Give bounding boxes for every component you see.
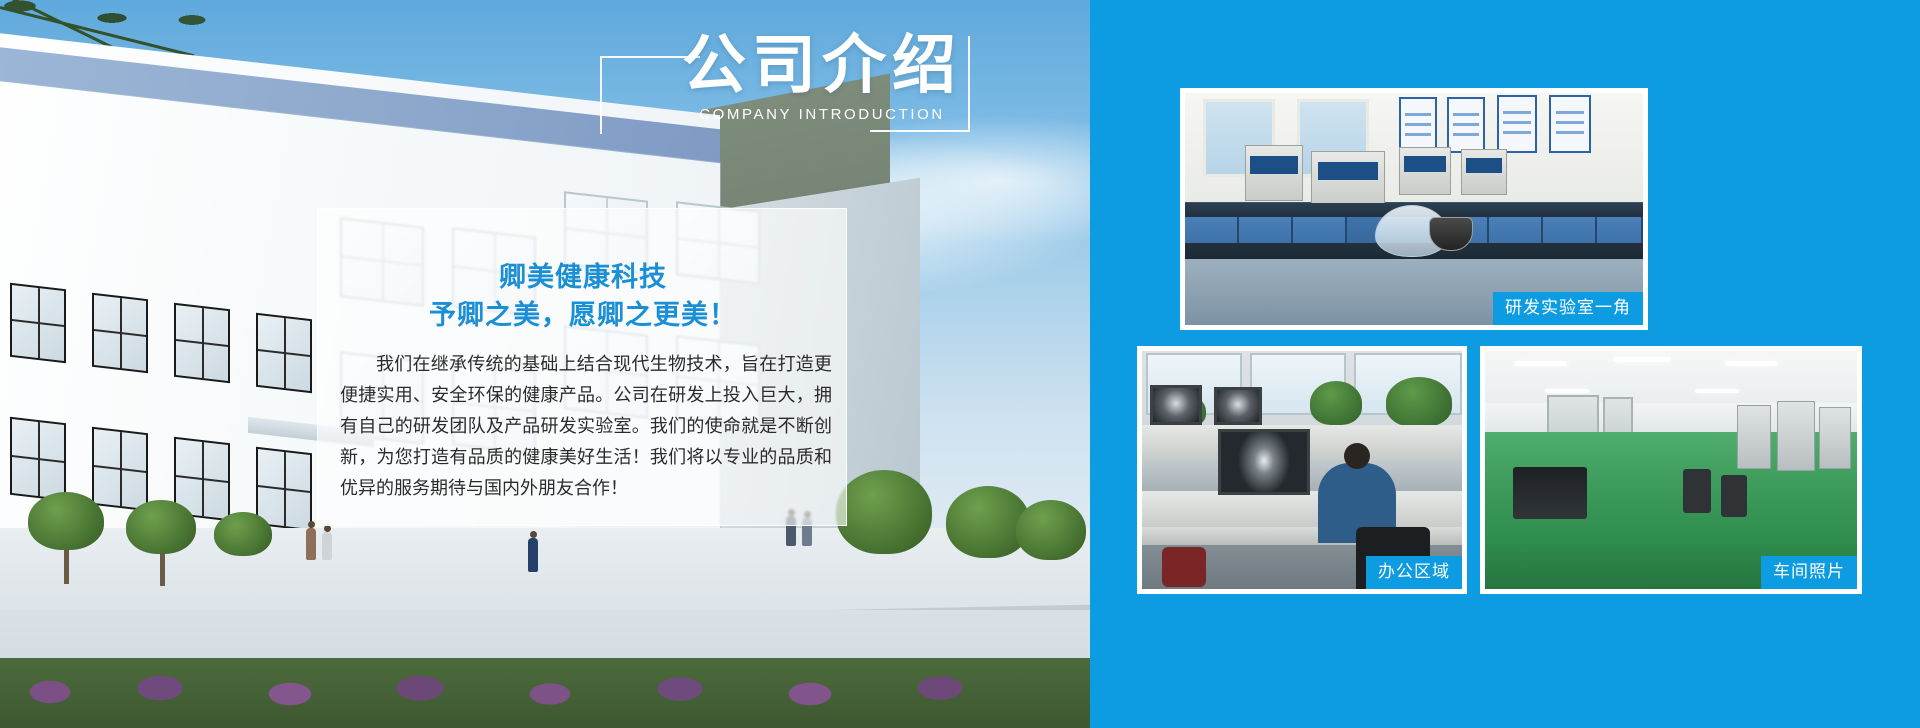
office-monitor (1150, 385, 1202, 425)
lab-instrument (1461, 149, 1507, 195)
company-slogan: 予卿之美，愿卿之更美！ (318, 299, 848, 333)
company-introduction-banner: 公司介绍 COMPANY INTRODUCTION 卿美健康科技 予卿之美，愿卿… (0, 0, 1920, 728)
pedestrian (306, 528, 316, 560)
lab-wall-poster (1497, 95, 1537, 153)
workshop-stool (1721, 475, 1747, 517)
workshop-equipment (1819, 407, 1851, 469)
ceiling-light (1545, 389, 1589, 393)
shrub (1016, 500, 1086, 560)
photo-caption: 研发实验室一角 (1493, 292, 1643, 325)
office-desk (1142, 491, 1467, 527)
flower-hedge (0, 658, 1090, 728)
building-window (92, 293, 148, 373)
page-title: 公司介绍 (662, 30, 982, 102)
ceiling-light (1725, 361, 1777, 366)
building-window (92, 427, 148, 511)
lab-photo[interactable]: 研发实验室一角 (1180, 88, 1648, 330)
page-subtitle: COMPANY INTRODUCTION (662, 106, 982, 123)
office-photo[interactable]: 办公区域 (1137, 346, 1467, 594)
shrub (126, 500, 196, 554)
photo-caption: 车间照片 (1761, 556, 1857, 589)
workshop-trolley (1513, 467, 1587, 519)
ceiling-light (1515, 361, 1567, 366)
shrub (836, 470, 932, 554)
photo-caption: 办公区域 (1366, 556, 1462, 589)
workshop-equipment (1737, 405, 1771, 469)
pedestrian (322, 532, 332, 560)
workshop-stool (1683, 469, 1711, 513)
building-window (10, 283, 66, 363)
lab-wall-poster (1447, 97, 1485, 153)
lab-instrument (1399, 147, 1451, 195)
shrub (214, 512, 272, 556)
office-plant (1310, 381, 1362, 425)
lab-wall-poster (1549, 95, 1591, 153)
intro-text-card: 卿美健康科技 予卿之美，愿卿之更美！ 我们在继承传统的基础上结合现代生物技术，旨… (317, 208, 847, 526)
workshop-equipment (1777, 401, 1815, 471)
shrub (28, 492, 104, 550)
office-monitor (1214, 387, 1262, 425)
ceiling-light (1613, 357, 1671, 362)
pedestrian (528, 538, 538, 572)
photo-gallery-panel: 研发实验室一角 办公区域 (1090, 0, 1920, 728)
office-workstation-monitor (1218, 429, 1310, 495)
lab-wall-poster (1399, 97, 1437, 153)
building-window (256, 313, 312, 393)
company-name-heading: 卿美健康科技 (318, 261, 848, 295)
ceiling-light (1695, 389, 1739, 393)
office-plant (1386, 377, 1452, 427)
building-window (174, 303, 230, 383)
building-window (10, 417, 66, 501)
workshop-photo[interactable]: 车间照片 (1480, 346, 1862, 594)
banner-title-block: 公司介绍 COMPANY INTRODUCTION (600, 18, 1090, 146)
lab-instrument (1245, 145, 1303, 201)
intro-paragraph: 我们在继承传统的基础上结合现代生物技术，旨在打造更便捷实用、安全环保的健康产品。… (340, 349, 832, 504)
office-bag (1162, 547, 1206, 587)
lab-instrument (1311, 151, 1385, 207)
